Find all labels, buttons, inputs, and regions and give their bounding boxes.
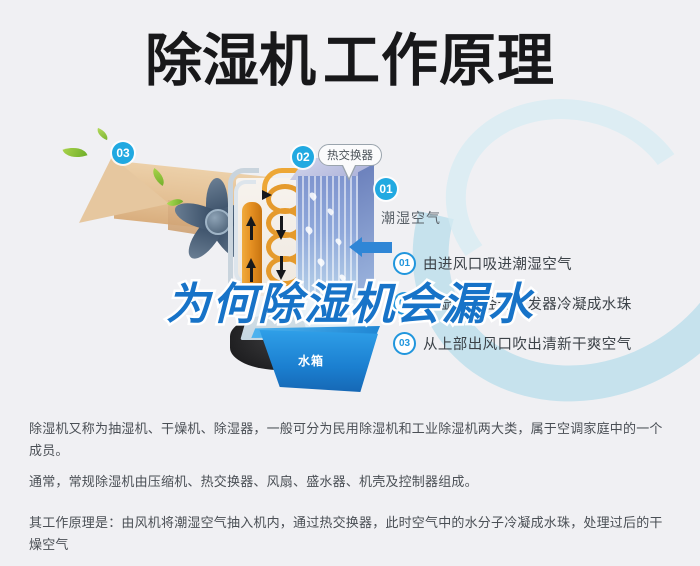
list-item: 01 由进风口吸进潮湿空气 — [393, 252, 693, 275]
page-title-main: 除湿机 — [145, 26, 316, 96]
step-number-badge: 02 — [393, 292, 416, 315]
flow-arrow-stem — [250, 224, 253, 240]
paragraph-2-line-1: 其工作原理是：由风机将潮湿空气抽入机内，通过热交换器，此时空气中的水分子冷凝成水… — [29, 512, 674, 556]
body-copy: 除湿机又称为抽湿机、干燥机、除湿器，一般可分为民用除湿机和工业除湿机两大类，属于… — [29, 418, 674, 566]
leaf-icon — [95, 128, 110, 140]
flow-arrow-stem — [280, 216, 283, 230]
list-item: 02 潮湿空气经过蒸发器冷凝成水珠 — [393, 292, 693, 315]
list-item: 03 从上部出风口吹出清新干爽空气 — [393, 332, 693, 355]
step-text: 从上部出风口吹出清新干爽空气 — [423, 333, 632, 354]
humid-air-intake-arrow-icon — [362, 242, 392, 253]
page-title-sub: 工作原理 — [323, 26, 555, 96]
flow-arrow-stem — [250, 266, 253, 282]
humid-air-label: 潮湿空气 — [381, 208, 441, 228]
flow-arrow-stem — [280, 256, 283, 270]
step-text: 潮湿空气经过蒸发器冷凝成水珠 — [423, 293, 632, 314]
flow-arrow-down-icon — [276, 270, 286, 280]
step-number-badge: 03 — [393, 332, 416, 355]
step-number-badge: 01 — [393, 252, 416, 275]
flow-arrow-right-icon — [262, 190, 272, 200]
diagram-badge-02: 02 — [292, 146, 314, 168]
water-tank-label: 水箱 — [298, 352, 324, 369]
flow-arrow-down-icon — [276, 230, 286, 240]
step-text: 由进风口吸进潮湿空气 — [423, 253, 572, 274]
flow-arrow-up-icon — [246, 258, 256, 268]
heat-exchanger-callout: 热交换器 — [318, 144, 382, 166]
paragraph-1-line-1: 除湿机又称为抽湿机、干燥机、除湿器，一般可分为民用除湿机和工业除湿机两大类，属于… — [29, 418, 674, 462]
flow-arrow-up-icon — [246, 216, 256, 226]
steps-list: 01 由进风口吸进潮湿空气 02 潮湿空气经过蒸发器冷凝成水珠 03 从上部出风… — [393, 252, 693, 372]
dehumidifier-infographic-page: 除湿机工作原理 干燥空气 — [0, 0, 700, 566]
evaporator-side-face — [358, 164, 374, 297]
diagram-badge-03: 03 — [112, 142, 134, 164]
diagram-badge-01: 01 — [375, 178, 397, 200]
water-tank-group: 水箱 — [232, 300, 412, 400]
paragraph-1-line-2: 通常，常规除湿机由压缩机、热交换器、风扇、盛水器、机壳及控制器组成。 — [29, 471, 674, 493]
